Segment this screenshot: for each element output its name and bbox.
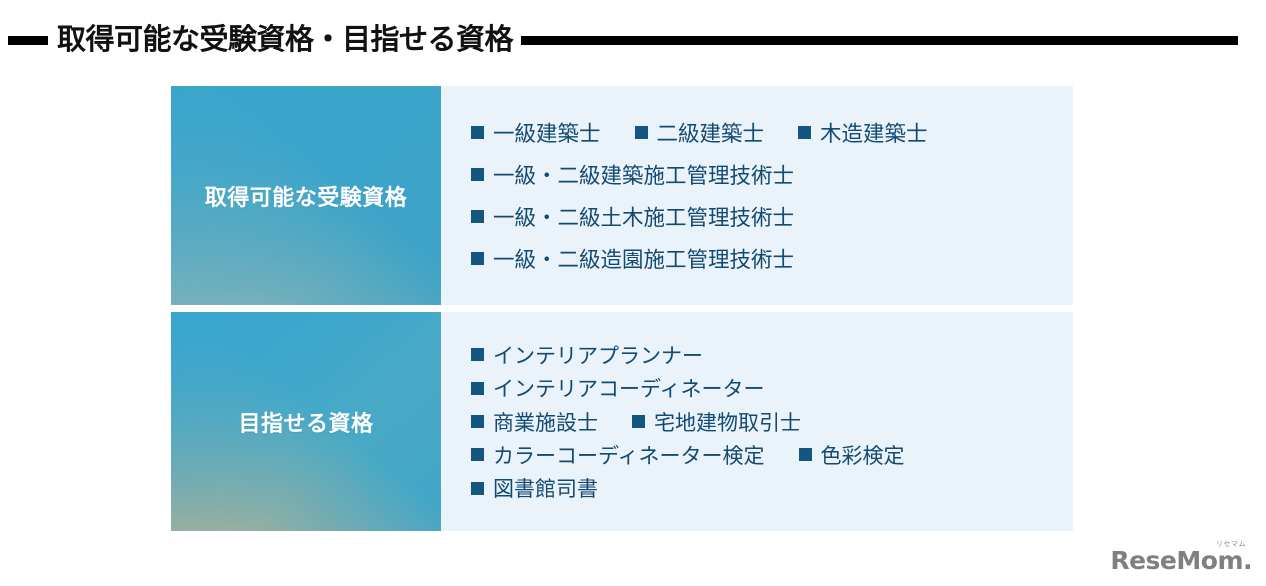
- row-label-cell-2: 目指せる資格: [171, 312, 441, 531]
- cert-label: 商業施設士: [493, 407, 598, 437]
- square-bullet-icon: [471, 126, 484, 139]
- cert-label: 一級・二級建築施工管理技術士: [493, 159, 794, 190]
- cert-line: インテリアコーディネーター: [471, 371, 1073, 404]
- row-content-cell-1: 一級建築士 二級建築士 木造建築士 一級・二級建築施工管理技術士: [441, 86, 1073, 305]
- cert-line: 一級・二級建築施工管理技術士: [471, 154, 1073, 196]
- square-bullet-icon: [471, 382, 484, 395]
- row-divider: [171, 305, 1073, 312]
- cert-item: 木造建築士: [798, 117, 928, 148]
- cert-line: 一級・二級土木施工管理技術士: [471, 196, 1073, 238]
- cert-line: 商業施設士 宅地建物取引士: [471, 405, 1073, 438]
- logo-text: ReseMom.: [1110, 546, 1252, 575]
- square-bullet-icon: [632, 415, 645, 428]
- cert-label: インテリアプランナー: [493, 340, 703, 370]
- square-bullet-icon: [471, 252, 484, 265]
- cert-item: 商業施設士: [471, 407, 598, 437]
- qualifications-table: 取得可能な受験資格 一級建築士 二級建築士 木造建築士: [171, 86, 1073, 531]
- cert-item: 一級・二級建築施工管理技術士: [471, 159, 794, 190]
- cert-line: カラーコーディネーター検定 色彩検定: [471, 438, 1073, 471]
- cert-item: 色彩検定: [799, 440, 905, 470]
- cert-label: 一級建築士: [493, 117, 601, 148]
- cert-item: 一級・二級造園施工管理技術士: [471, 243, 794, 274]
- cert-line: 一級・二級造園施工管理技術士: [471, 237, 1073, 279]
- square-bullet-icon: [471, 482, 484, 495]
- cert-label: 一級・二級造園施工管理技術士: [493, 243, 794, 274]
- cert-item: インテリアプランナー: [471, 340, 703, 370]
- cert-item: 一級建築士: [471, 117, 601, 148]
- cert-label: インテリアコーディネーター: [493, 373, 765, 403]
- cert-item: 図書館司書: [471, 473, 598, 503]
- cert-item: 二級建築士: [635, 117, 765, 148]
- square-bullet-icon: [471, 415, 484, 428]
- square-bullet-icon: [798, 126, 811, 139]
- row-label-cell-1: 取得可能な受験資格: [171, 86, 441, 305]
- cert-label: 二級建築士: [657, 117, 765, 148]
- logo-ruby-text: リセマム: [1216, 539, 1246, 549]
- row-label-2: 目指せる資格: [238, 406, 373, 438]
- header-rule-left: [8, 36, 48, 45]
- table-row-target-qualifications: 目指せる資格 インテリアプランナー インテリアコーディネーター 商業施設士: [171, 312, 1073, 531]
- cert-label: 木造建築士: [820, 117, 928, 148]
- row-label-1: 取得可能な受験資格: [205, 180, 408, 212]
- square-bullet-icon: [635, 126, 648, 139]
- logo-wrap: リセマム ReseMom.: [1110, 548, 1252, 574]
- cert-item: インテリアコーディネーター: [471, 373, 765, 403]
- row-content-cell-2: インテリアプランナー インテリアコーディネーター 商業施設士 宅地建物取引士: [441, 312, 1073, 531]
- cert-item: 宅地建物取引士: [632, 407, 801, 437]
- square-bullet-icon: [471, 168, 484, 181]
- cert-label: 色彩検定: [821, 440, 905, 470]
- cert-label: カラーコーディネーター検定: [493, 440, 765, 470]
- header-rule-right: [521, 36, 1238, 45]
- square-bullet-icon: [471, 448, 484, 461]
- square-bullet-icon: [471, 348, 484, 361]
- cert-line: 図書館司書: [471, 472, 1073, 505]
- page-title: 取得可能な受験資格・目指せる資格: [48, 26, 521, 55]
- cert-label: 図書館司書: [493, 473, 598, 503]
- cert-line: インテリアプランナー: [471, 338, 1073, 371]
- page-header: 取得可能な受験資格・目指せる資格: [0, 18, 1266, 62]
- cert-label: 宅地建物取引士: [654, 407, 801, 437]
- square-bullet-icon: [471, 210, 484, 223]
- cert-line: 一級建築士 二級建築士 木造建築士: [471, 112, 1073, 154]
- square-bullet-icon: [799, 448, 812, 461]
- resemom-logo: リセマム ReseMom.: [1110, 548, 1252, 574]
- cert-item: カラーコーディネーター検定: [471, 440, 765, 470]
- cert-item: 一級・二級土木施工管理技術士: [471, 201, 794, 232]
- table-row-acquirable-exam-qualifications: 取得可能な受験資格 一級建築士 二級建築士 木造建築士: [171, 86, 1073, 305]
- cert-label: 一級・二級土木施工管理技術士: [493, 201, 794, 232]
